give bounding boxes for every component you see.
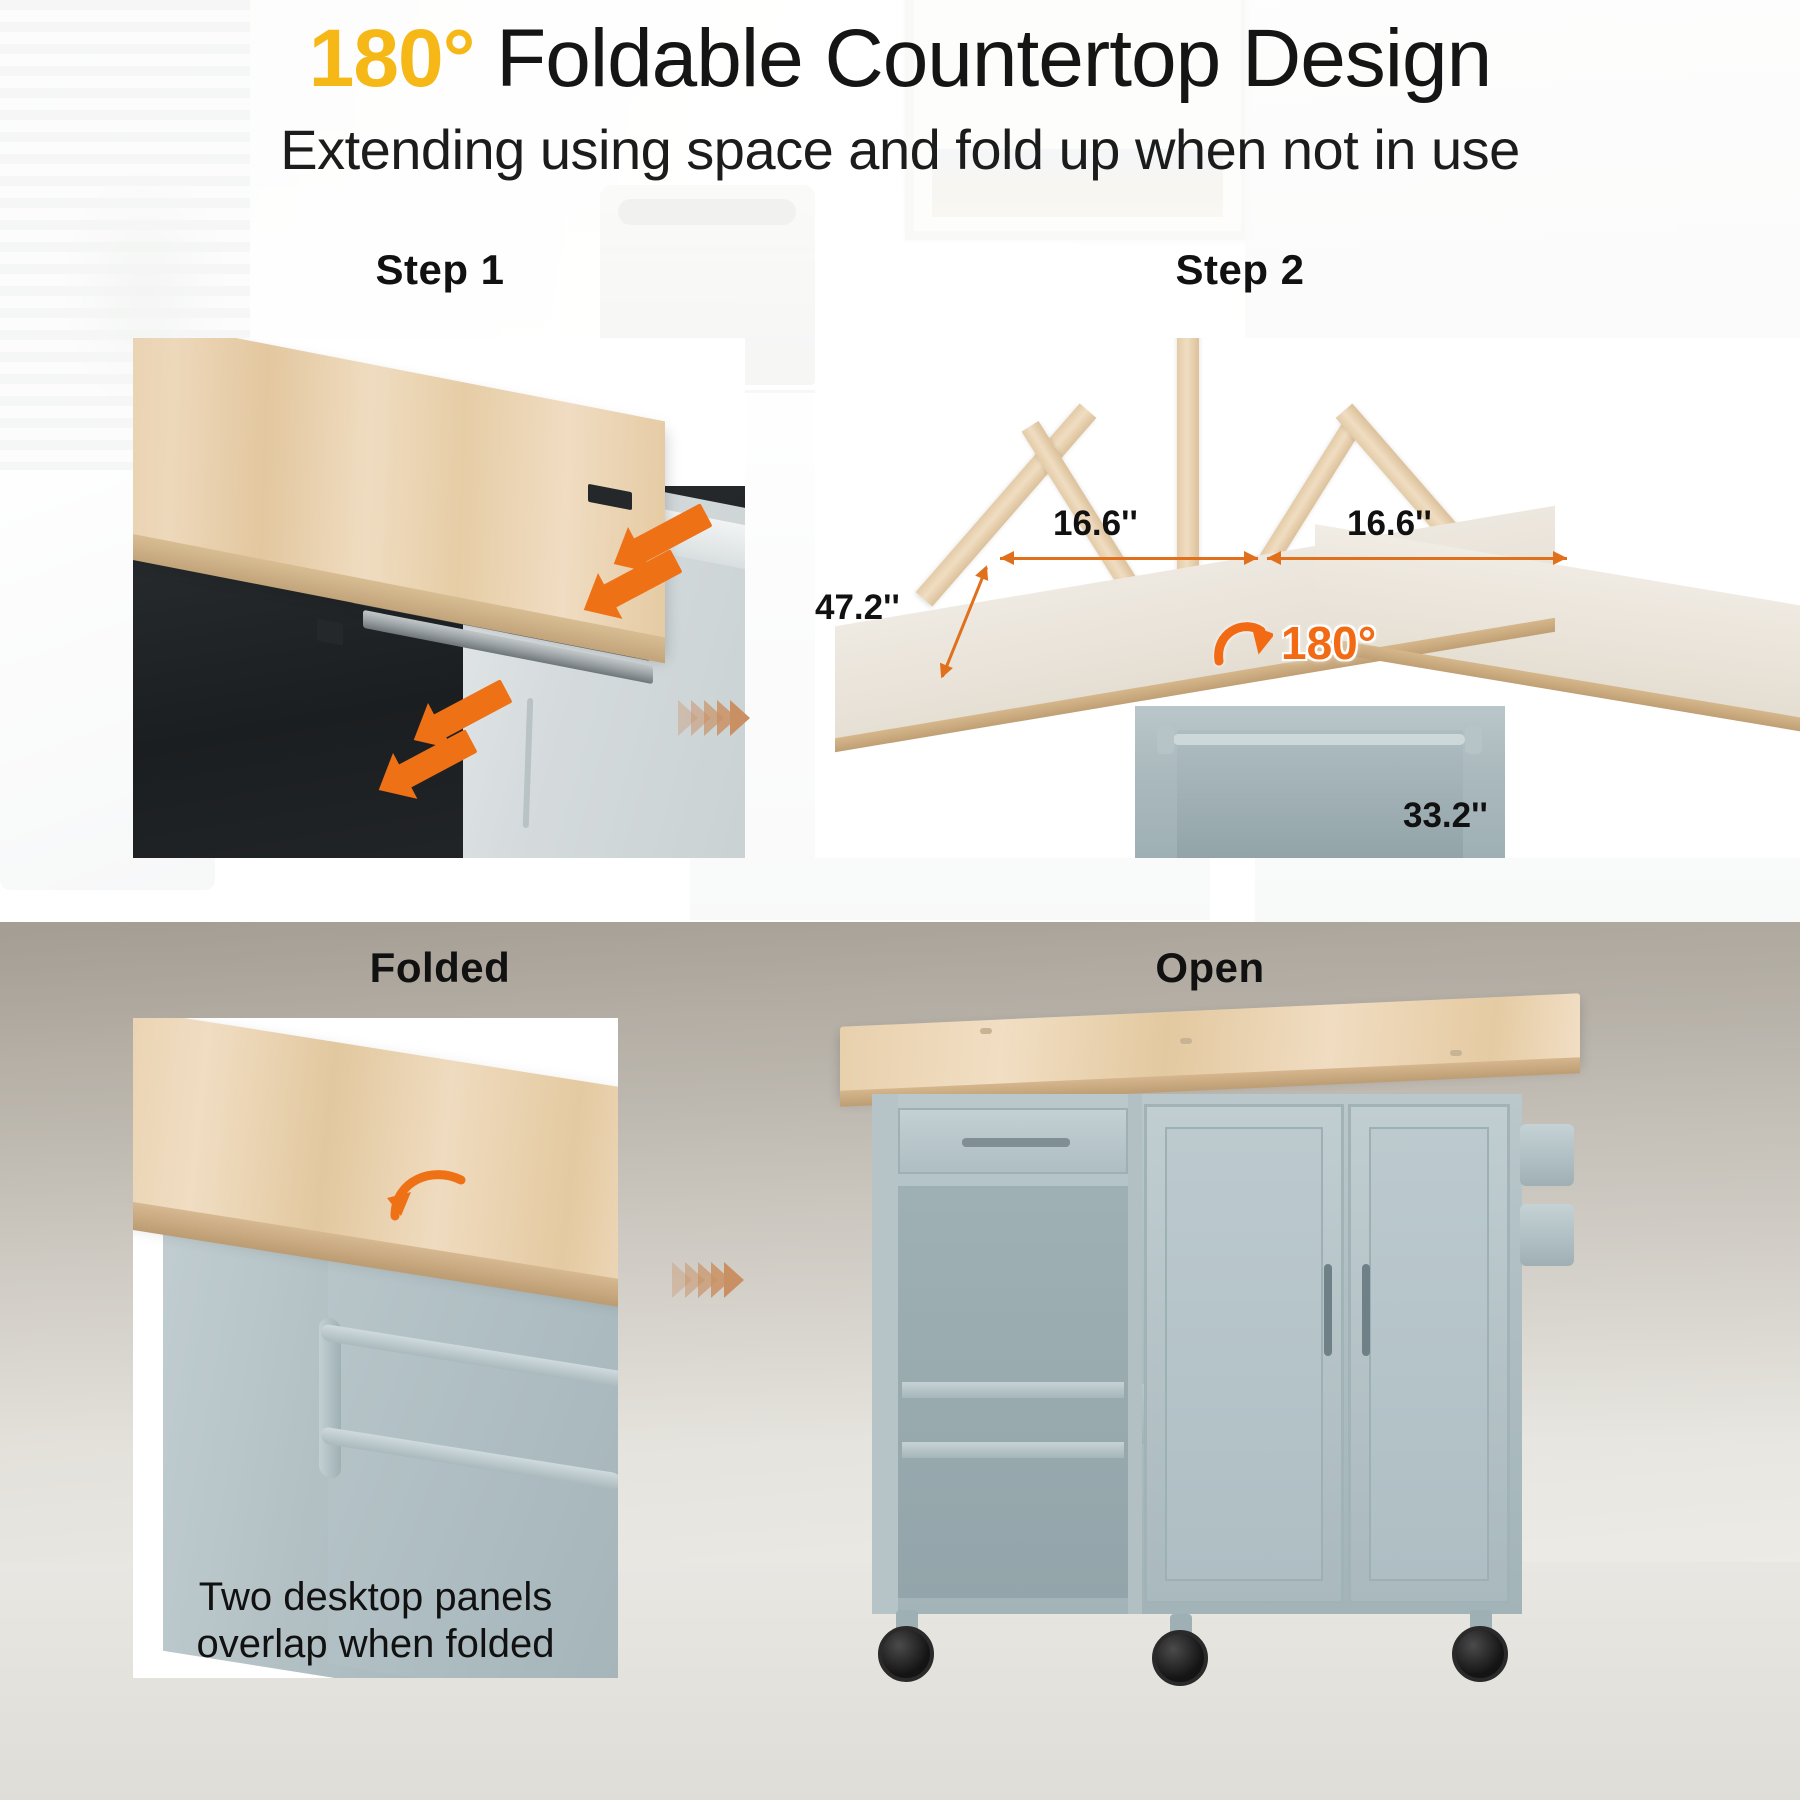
cabinet-drawer (898, 1108, 1128, 1174)
dimension-label-right-half: 16.6'' (1347, 504, 1432, 544)
rail-knob-left (1157, 726, 1174, 754)
step-2-photo: 16.6'' 16.6'' 47.2'' 33.2'' 180° (815, 338, 1800, 858)
rotation-arrow-icon (1213, 617, 1273, 669)
caster-wheel-left (878, 1626, 934, 1682)
shelf-middle (902, 1442, 1124, 1458)
folded-photo: Two desktop panels overlap when folded (133, 1018, 618, 1678)
dimension-label-total-width: 33.2'' (1403, 796, 1488, 836)
door-handle-left (1324, 1264, 1332, 1356)
door-left-inset (1165, 1127, 1323, 1581)
cabinet-left-column (872, 1094, 898, 1614)
flow-chevrons-bottom (672, 1262, 737, 1298)
caster-wheel-center (1152, 1630, 1208, 1686)
cabinet-door-left (1144, 1104, 1344, 1604)
door-handle-right (1362, 1264, 1370, 1356)
top-section: 180° Foldable Countertop Design Extendin… (0, 0, 1800, 922)
fold-rotation-arrow-icon (385, 1158, 475, 1228)
title-rest: Foldable Countertop Design (474, 13, 1491, 104)
countertop-screw-icon (1450, 1050, 1462, 1056)
folded-caption-line1: Two desktop panels (133, 1574, 618, 1621)
cabinet-center-divider (1128, 1094, 1142, 1614)
angle-180-badge: 180° (1213, 616, 1376, 670)
drawer-pull-handle (962, 1138, 1070, 1147)
wood-plank-center (1177, 338, 1199, 580)
dimension-line-left-half (1000, 557, 1258, 560)
open-shelf-compartment (898, 1186, 1128, 1598)
angle-180-text: 180° (1281, 616, 1376, 670)
rail-knob-right (1465, 726, 1482, 754)
drop-leaf-hinge-lower (1520, 1204, 1574, 1266)
dimension-label-depth: 47.2'' (815, 588, 900, 628)
open-label: Open (960, 944, 1460, 992)
dimension-label-left-half: 16.6'' (1053, 504, 1138, 544)
chevron-right-icon (711, 1262, 731, 1298)
step-1-photo (133, 338, 745, 858)
page-subtitle: Extending using space and fold up when n… (0, 117, 1800, 182)
towel-rail (1173, 734, 1465, 745)
drop-leaf-hinge-upper (1520, 1124, 1574, 1186)
chevron-right-icon (717, 700, 737, 736)
dimension-line-right-half (1267, 557, 1567, 560)
shelf-upper (902, 1382, 1124, 1398)
folded-caption-line2: overlap when folded (133, 1621, 618, 1668)
countertop-screw-icon (1180, 1038, 1192, 1044)
open-cart-photo (830, 1010, 1630, 1698)
step-1-label: Step 1 (130, 246, 750, 294)
cabinet-base-inner (1177, 730, 1463, 858)
folded-label: Folded (130, 944, 750, 992)
step-2-label: Step 2 (1020, 246, 1460, 294)
open-cabinet-body (872, 1094, 1522, 1614)
folded-caption: Two desktop panels overlap when folded (133, 1574, 618, 1668)
header: 180° Foldable Countertop Design Extendin… (0, 16, 1800, 182)
title-degrees: 180° (309, 13, 475, 104)
page-title: 180° Foldable Countertop Design (0, 16, 1800, 103)
caster-wheel-right (1452, 1626, 1508, 1682)
cabinet-door-right (1348, 1104, 1510, 1604)
door-right-inset (1369, 1127, 1489, 1581)
countertop-screw-icon (980, 1028, 992, 1034)
flow-chevrons-top (678, 700, 743, 736)
